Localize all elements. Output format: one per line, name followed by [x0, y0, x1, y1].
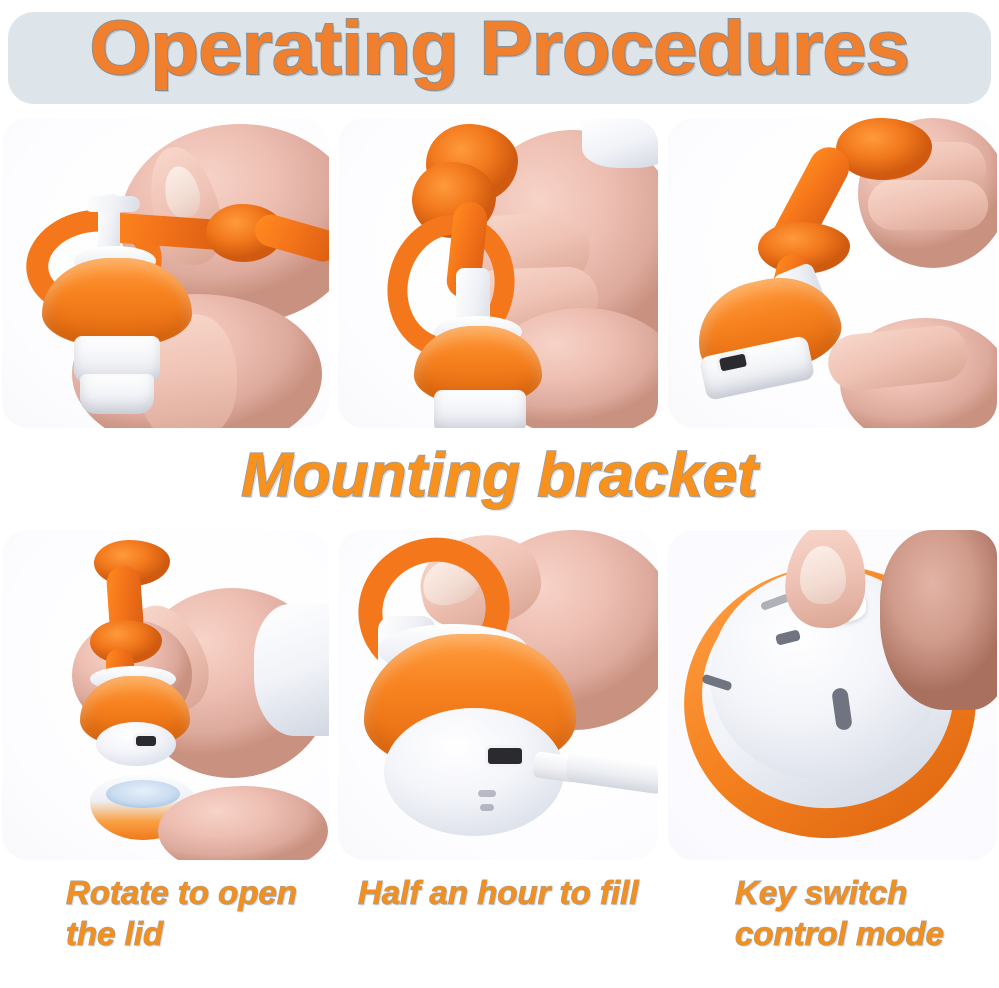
step-4-image	[2, 530, 329, 860]
sleeve-shape	[582, 118, 658, 168]
usb-port-shape	[488, 748, 522, 764]
caption-line: the lid	[66, 915, 163, 952]
mid-section-heading: Mounting bracket	[0, 432, 999, 520]
usb-port-shape	[136, 736, 156, 746]
caption-line: Rotate to open	[66, 874, 297, 911]
caption-line: control mode	[735, 915, 944, 952]
caption-rotate-to-open-the-lid: Rotate to open the lid	[66, 872, 366, 954]
caption-line: Half an hour to fill	[358, 874, 638, 911]
product-white-body-shape	[434, 390, 526, 428]
step-photo-1	[2, 118, 329, 428]
step-5-image	[338, 530, 658, 860]
step-2-image	[338, 118, 658, 428]
steps-bottom-row	[0, 530, 999, 860]
product-white-base-shape	[80, 374, 154, 414]
product-crossbar-shape	[84, 196, 140, 212]
step-photo-6	[668, 530, 997, 860]
caption-half-an-hour-to-fill: Half an hour to fill	[358, 872, 678, 913]
step-photo-2	[338, 118, 658, 428]
step-1-image	[2, 118, 329, 428]
caption-line: Key switch	[735, 874, 907, 911]
vent-slot-shape	[478, 790, 496, 797]
finger-shape	[868, 180, 988, 230]
caption-key-switch-control-mode: Key switch control mode	[735, 872, 995, 954]
usb-cable-shape	[564, 751, 658, 795]
sleeve-shape	[254, 604, 329, 736]
page-title: Operating Procedures	[0, 6, 999, 92]
step-photo-3	[668, 118, 997, 428]
step-6-image	[668, 530, 997, 860]
vent-slot-shape	[480, 804, 494, 811]
step-captions: Rotate to open the lid Half an hour to f…	[0, 872, 999, 982]
step-3-image	[668, 118, 997, 428]
step-photo-4	[2, 530, 329, 860]
lid-inner-liner-shape	[106, 780, 180, 808]
step-photo-5	[338, 530, 658, 860]
steps-top-row	[0, 118, 999, 428]
